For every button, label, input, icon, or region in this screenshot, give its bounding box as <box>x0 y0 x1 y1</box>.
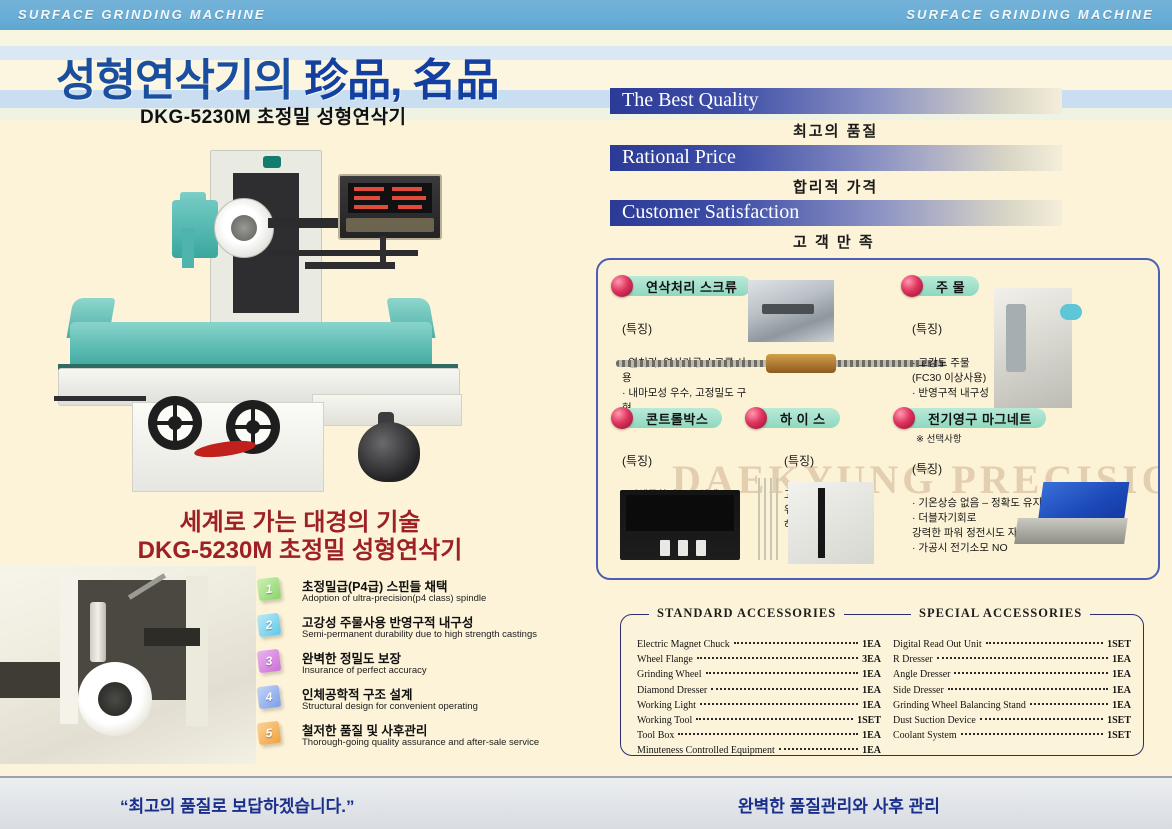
leader-dots <box>954 672 1108 674</box>
benefit-en-3: Insurance of perfect accuracy <box>302 665 427 676</box>
benefit-item: 2 고강성 주물사용 반영구적 내구성 Semi-permanent durab… <box>258 614 588 648</box>
accessory-name: Wheel Flange <box>637 652 693 667</box>
accessory-name: Side Dresser <box>893 683 944 698</box>
controlbox-screen <box>626 495 734 531</box>
accessory-qty: 1EA <box>1112 698 1131 713</box>
accessory-name: Tool Box <box>637 728 674 743</box>
accessory-name: Dust Suction Device <box>893 713 976 728</box>
benefit-number-badge-4: 4 <box>257 685 282 710</box>
quality-item-0-en: The Best Quality <box>622 89 759 112</box>
feature-note-4: ※ 선택사항 <box>916 431 962 445</box>
leader-dots <box>697 657 858 659</box>
accessory-row: Working Tool1SET <box>637 713 881 728</box>
feature-photo-magnet-chuck <box>1014 518 1128 544</box>
machine-dro-base <box>305 262 395 269</box>
benefit-number-badge-1: 1 <box>257 577 282 602</box>
bullet-sphere-icon <box>745 407 767 429</box>
accessory-name: Electric Magnet Chuck <box>637 637 730 652</box>
benefit-number-badge-2: 2 <box>257 613 282 638</box>
leader-dots <box>700 703 858 705</box>
machine-dro-screen <box>348 183 432 213</box>
accessory-qty: 1EA <box>862 728 881 743</box>
ballscrew-nut <box>766 354 836 373</box>
benefit-item: 3 완벽한 정밀도 보장 Insurance of perfect accura… <box>258 650 588 684</box>
feature-title-4: 전기영구 마그네트 <box>928 409 1032 428</box>
closeup-post-right <box>186 576 208 726</box>
leader-dots <box>779 748 858 750</box>
accessory-qty: 3EA <box>862 652 881 667</box>
feature-title-1: 주 물 <box>936 277 965 296</box>
feature-heading-0: (특징) <box>622 321 752 338</box>
benefit-en-2: Semi-permanent durability due to high st… <box>302 629 537 640</box>
accessory-qty: 1EA <box>862 743 881 758</box>
feature-photo-casting-accent <box>1060 304 1082 320</box>
benefit-number-5: 5 <box>265 726 273 741</box>
accessory-name: Minuteness Controlled Equipment <box>637 743 775 758</box>
accessory-row: Tool Box1EA <box>637 728 881 743</box>
feature-heading-2: (특징) <box>622 453 762 470</box>
feature-tag-4: 전기영구 마그네트 <box>902 408 1046 428</box>
feature-tag-0: 연삭처리 스크류 <box>620 276 751 296</box>
feature-tag-1: 주 물 <box>910 276 979 296</box>
benefit-number-2: 2 <box>265 618 273 633</box>
accessory-qty: 1SET <box>857 713 881 728</box>
accessory-name: Working Light <box>637 698 696 713</box>
feature-photo-screw-detail <box>748 280 834 342</box>
leader-dots <box>1030 703 1108 705</box>
closeup-block-upper <box>144 628 200 646</box>
accessory-qty: 1EA <box>1112 652 1131 667</box>
feature-lines-1: · 고강도 주물 (FC30 이상사용) · 반영구적 내구성 <box>912 357 989 399</box>
bullet-sphere-icon <box>893 407 915 429</box>
feature-heading-4: (특징) <box>912 461 1132 478</box>
feature-heading-3: (특징) <box>784 453 894 470</box>
feature-photo-controlbox <box>620 490 740 560</box>
benefit-number-3: 3 <box>265 654 273 669</box>
page-title-part2: 珍品, 名品 <box>304 56 498 105</box>
accessory-name: Digital Read Out Unit <box>893 637 982 652</box>
page-title: 성형연삭기의 珍品, 名品 <box>56 44 499 108</box>
machine-closeup-photo <box>0 566 256 764</box>
machine-wheel-hub <box>231 215 257 241</box>
accessory-row: Digital Read Out Unit1SET <box>893 637 1131 652</box>
benefit-item: 4 인체공학적 구조 설계 Structural design for conv… <box>258 686 588 720</box>
machine-head-housing <box>172 200 218 258</box>
accessory-qty: 1EA <box>1112 667 1131 682</box>
accessory-name: Grinding Wheel <box>637 667 702 682</box>
benefit-number-badge-5: 5 <box>257 721 282 746</box>
accessory-qty: 1EA <box>1112 683 1131 698</box>
feature-tag-2: 콘트롤박스 <box>620 408 722 428</box>
accessory-row: Diamond Dresser1EA <box>637 683 881 698</box>
leader-dots <box>980 718 1103 720</box>
promo-line-2: DKG-5230M 초정밀 성형연삭기 <box>0 530 600 565</box>
accessory-row: Angle Dresser1EA <box>893 667 1131 682</box>
accessory-row: Dust Suction Device1SET <box>893 713 1131 728</box>
machine-handwheel-x <box>148 396 202 450</box>
benefit-number-4: 4 <box>265 690 273 705</box>
footer-bar: “최고의 품질로 보답하겠습니다.” 완벽한 품질관리와 사후 관리 <box>0 776 1172 829</box>
closeup-grinding-wheel <box>78 662 152 736</box>
accessory-name: R Dresser <box>893 652 933 667</box>
closeup-post-left <box>60 574 78 724</box>
standard-accessories-title: STANDARD ACCESSORIES <box>649 606 844 621</box>
leader-dots <box>961 733 1103 735</box>
special-accessories-title: SPECIAL ACCESSORIES <box>911 606 1090 621</box>
feature-title-3: 하 이 스 <box>780 409 826 428</box>
benefit-number-1: 1 <box>265 582 273 597</box>
feature-tag-3: 하 이 스 <box>754 408 840 428</box>
closeup-wheel-bore <box>98 682 132 716</box>
quality-item-1-ko: 합리적 가격 <box>793 176 878 197</box>
footer-gap <box>0 764 1172 776</box>
accessory-row: Coolant System1SET <box>893 728 1131 743</box>
footer-text-right: 완벽한 품질관리와 사후 관리 <box>738 792 940 817</box>
header-title-right: SURFACE GRINDING MACHINE <box>906 7 1154 22</box>
benefit-number-badge-3: 3 <box>257 649 282 674</box>
bullet-sphere-icon <box>611 407 633 429</box>
top-header-bar: SURFACE GRINDING MACHINE SURFACE GRINDIN… <box>0 0 1172 30</box>
accessory-row: Grinding Wheel Balancing Stand1EA <box>893 698 1131 713</box>
machine-brand-logo-icon <box>263 156 281 168</box>
machine-grinding-wheel <box>214 198 274 258</box>
leader-dots <box>696 718 853 720</box>
accessory-name: Angle Dresser <box>893 667 950 682</box>
feature-title-2: 콘트롤박스 <box>646 409 708 428</box>
feature-body-1: (특징) · 고강도 주물 (FC30 이상사용) · 반영구적 내구성 <box>912 306 1032 401</box>
machine-dro-display <box>338 174 442 240</box>
accessory-name: Coolant System <box>893 728 957 743</box>
quality-item-2-ko: 고 객 만 족 <box>793 231 875 252</box>
header-title-left: SURFACE GRINDING MACHINE <box>18 7 266 22</box>
accessory-name: Diamond Dresser <box>637 683 707 698</box>
machine-head-arm <box>182 228 194 268</box>
accessory-qty: 1EA <box>862 683 881 698</box>
page-title-part1: 성형연삭기의 <box>56 56 304 105</box>
accessory-qty: 1EA <box>862 667 881 682</box>
footer-text-left: “최고의 품질로 보답하겠습니다.” <box>120 792 355 817</box>
machine-dro-buttons <box>346 218 434 232</box>
machine-guard-bar <box>54 396 146 401</box>
leader-dots <box>986 642 1103 644</box>
brochure-page: SURFACE GRINDING MACHINE SURFACE GRINDIN… <box>0 0 1172 829</box>
accessory-qty: 1EA <box>862 637 881 652</box>
accessory-row: Wheel Flange3EA <box>637 652 881 667</box>
accessory-qty: 1SET <box>1107 713 1131 728</box>
machine-rail-lower <box>268 250 418 256</box>
accessories-box: STANDARD ACCESSORIES SPECIAL ACCESSORIES… <box>620 614 1144 756</box>
closeup-block-left <box>0 662 60 698</box>
bullet-sphere-icon <box>611 275 633 297</box>
closeup-cylinder <box>90 602 106 662</box>
benefit-item: 5 철저한 품질 및 사후관리 Thorough-going quality a… <box>258 722 588 756</box>
leader-dots <box>706 672 859 674</box>
quality-item-0-ko: 최고의 품질 <box>793 120 878 141</box>
accessory-qty: 1SET <box>1107 637 1131 652</box>
machine-photo <box>60 150 480 490</box>
leader-dots <box>678 733 858 735</box>
benefit-en-5: Thorough-going quality assurance and aft… <box>302 737 539 748</box>
leader-dots <box>948 688 1108 690</box>
accessory-row: Electric Magnet Chuck1EA <box>637 637 881 652</box>
benefit-en-1: Adoption of ultra-precision(p4 class) sp… <box>302 593 486 604</box>
accessory-row: Working Light1EA <box>637 698 881 713</box>
feature-photo-ballscrew <box>616 352 946 374</box>
accessory-name: Working Tool <box>637 713 692 728</box>
feature-photo-hss <box>788 482 874 564</box>
feature-heading-1: (특징) <box>912 321 1032 338</box>
quality-item-1-en: Rational Price <box>622 146 736 169</box>
standard-accessories-list: Electric Magnet Chuck1EA Wheel Flange3EA… <box>637 637 881 759</box>
leader-dots <box>734 642 858 644</box>
accessory-qty: 1SET <box>1107 728 1131 743</box>
accessory-row: Grinding Wheel1EA <box>637 667 881 682</box>
benefit-en-4: Structural design for convenient operati… <box>302 701 478 712</box>
benefit-item: 1 초정밀급(P4급) 스핀들 채택 Adoption of ultra-pre… <box>258 578 588 612</box>
accessory-row: Minuteness Controlled Equipment1EA <box>637 743 881 758</box>
feature-title-0: 연삭처리 스크류 <box>646 277 737 296</box>
machine-motor <box>358 422 420 482</box>
quality-item-2-en: Customer Satisfaction <box>622 201 799 224</box>
special-accessories-list: Digital Read Out Unit1SET R Dresser1EA A… <box>893 637 1131 743</box>
features-panel: DAEKYUNG PRECISION 연삭처리 스크류 (특징) · 열처리, … <box>596 258 1160 580</box>
accessory-name: Grinding Wheel Balancing Stand <box>893 698 1026 713</box>
accessory-row: Side Dresser1EA <box>893 683 1131 698</box>
accessory-qty: 1EA <box>862 698 881 713</box>
benefits-list: 1 초정밀급(P4급) 스핀들 채택 Adoption of ultra-pre… <box>258 578 588 758</box>
leader-dots <box>711 688 858 690</box>
page-subtitle: DKG-5230M 초정밀 성형연삭기 <box>140 102 407 129</box>
leader-dots <box>937 657 1108 659</box>
bullet-sphere-icon <box>901 275 923 297</box>
accessory-row: R Dresser1EA <box>893 652 1131 667</box>
